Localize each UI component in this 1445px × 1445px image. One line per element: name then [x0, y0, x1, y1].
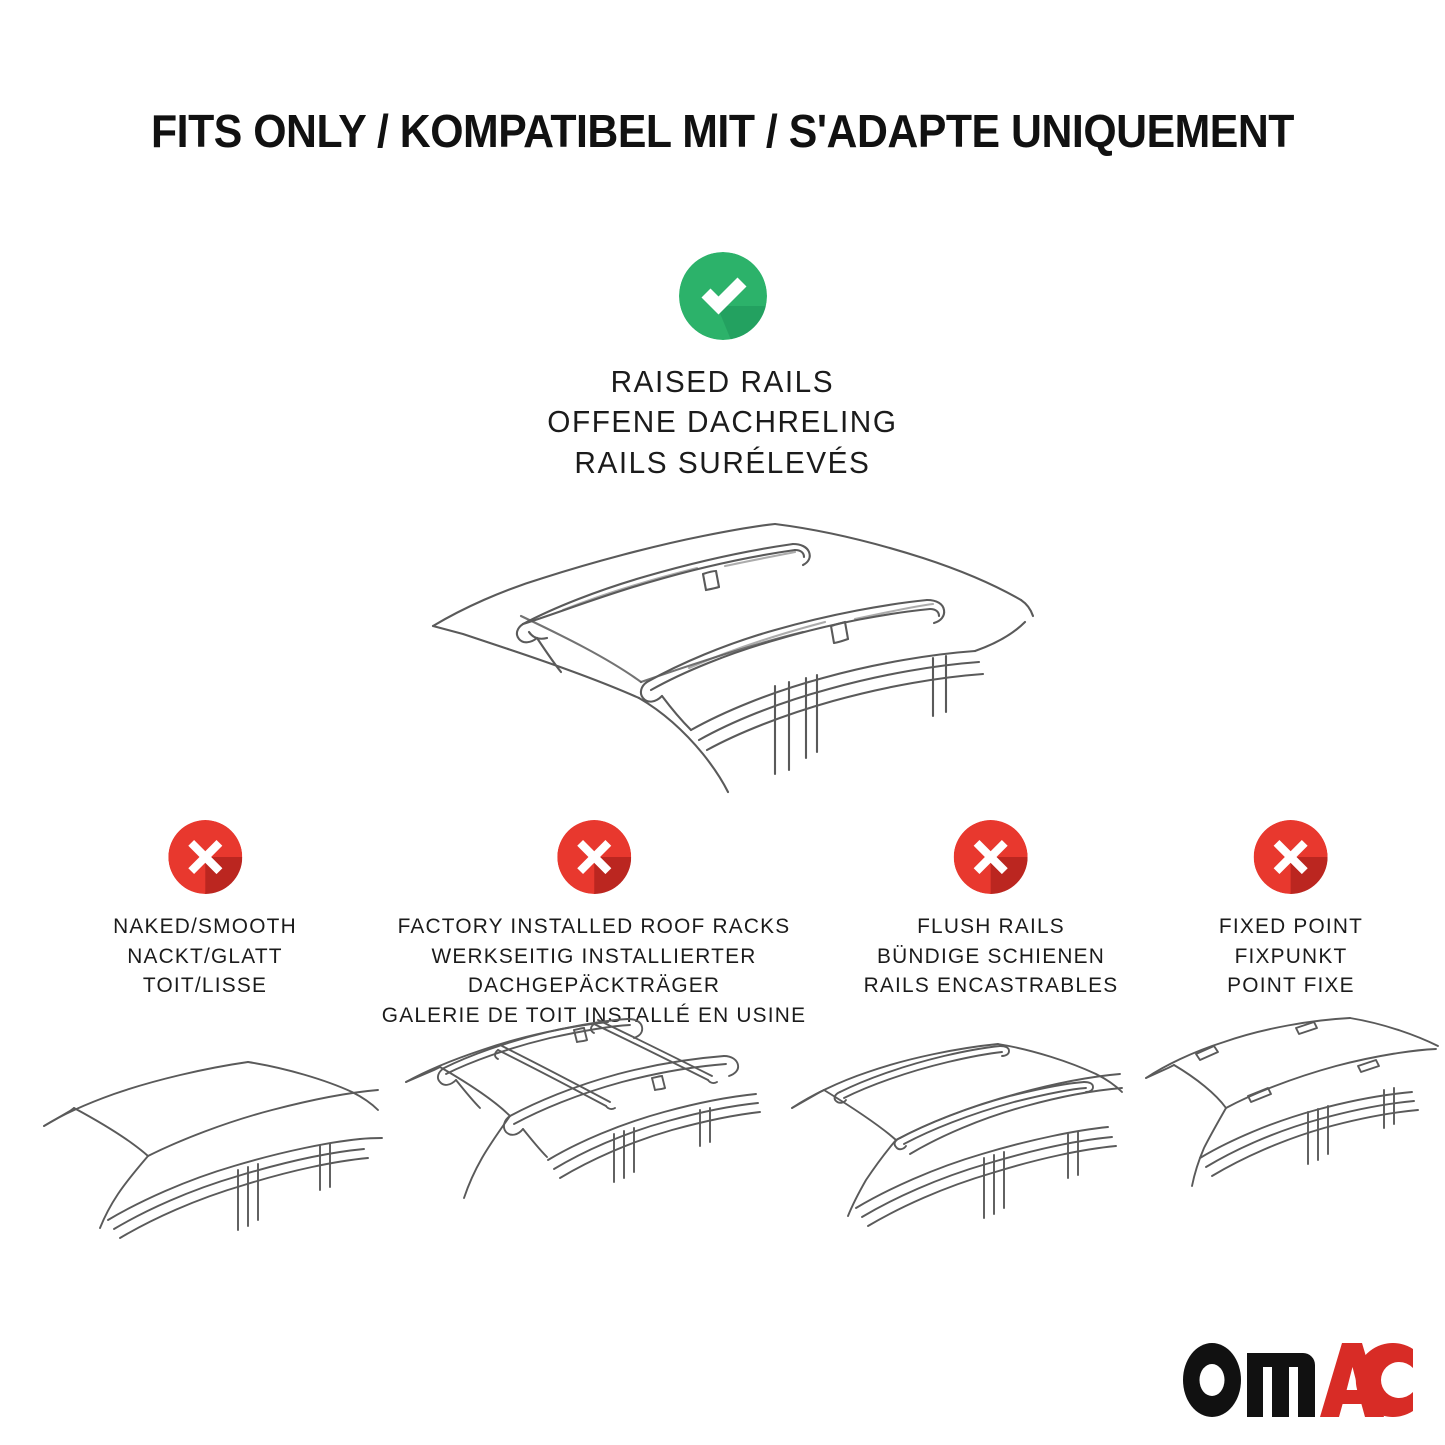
page-title: FITS ONLY / KOMPATIBEL MIT / S'ADAPTE UN…	[51, 104, 1395, 158]
incompatible-label-en: FACTORY INSTALLED ROOF RACKS	[382, 912, 806, 942]
compatible-label-de: OFFENE DACHRELING	[547, 402, 897, 442]
logo-letter-m	[1247, 1353, 1315, 1417]
incompatible-item-naked-smooth: NAKED/SMOOTH NACKT/GLATT TOIT/LISSE	[110, 820, 299, 1001]
compatible-label-fr: RAILS SURÉLEVÉS	[547, 443, 897, 483]
red-cross-circle-icon	[557, 820, 631, 894]
incompatible-label-de: FIXPUNKT	[1219, 942, 1363, 972]
red-cross-circle-icon	[954, 820, 1028, 894]
red-cross-circle-icon	[168, 820, 242, 894]
incompatible-item-flush-rails: FLUSH RAILS BÜNDIGE SCHIENEN RAILS ENCAS…	[860, 820, 1123, 1001]
compatible-label-en: RAISED RAILS	[547, 362, 897, 402]
incompatible-label-de-1: WERKSEITIG INSTALLIERTER	[382, 942, 806, 972]
car-roof-naked-smooth-illustration	[30, 1030, 390, 1265]
incompatible-labels: FIXED POINT FIXPUNKT POINT FIXE	[1219, 912, 1363, 1001]
incompatible-label-en: NAKED/SMOOTH	[113, 912, 297, 942]
car-roof-flush-rails-illustration	[778, 1026, 1138, 1264]
incompatible-label-de-2: DACHGEPÄCKTRÄGER	[382, 971, 806, 1001]
compatible-labels: RAISED RAILS OFFENE DACHRELING RAILS SUR…	[547, 362, 897, 483]
incompatible-item-fixed-point: FIXED POINT FIXPUNKT POINT FIXE	[1217, 820, 1366, 1001]
car-roof-factory-roof-racks-illustration	[398, 1016, 770, 1266]
incompatible-labels: FACTORY INSTALLED ROOF RACKS WERKSEITIG …	[382, 912, 806, 1031]
incompatible-label-fr: RAILS ENCASTRABLES	[864, 971, 1119, 1001]
car-roof-fixed-point-illustration	[1140, 1016, 1445, 1264]
compatibility-infographic: FITS ONLY / KOMPATIBEL MIT / S'ADAPTE UN…	[0, 0, 1445, 1445]
incompatible-item-factory-roof-racks: FACTORY INSTALLED ROOF RACKS WERKSEITIG …	[375, 820, 813, 1031]
car-roof-raised-rails-illustration	[403, 486, 1043, 796]
green-check-circle-icon	[679, 252, 767, 340]
incompatible-label-de: BÜNDIGE SCHIENEN	[864, 942, 1119, 972]
incompatible-label-en: FIXED POINT	[1219, 912, 1363, 942]
incompatible-label-fr: POINT FIXE	[1219, 971, 1363, 1001]
logo-letter-o	[1183, 1343, 1241, 1417]
red-cross-circle-icon	[1254, 820, 1328, 894]
incompatible-label-de: NACKT/GLATT	[113, 942, 297, 972]
incompatible-labels: FLUSH RAILS BÜNDIGE SCHIENEN RAILS ENCAS…	[864, 912, 1119, 1001]
incompatible-label-en: FLUSH RAILS	[864, 912, 1119, 942]
incompatible-section: NAKED/SMOOTH NACKT/GLATT TOIT/LISSE FACT…	[0, 820, 1445, 1290]
omac-logo: OMAC	[1183, 1343, 1413, 1417]
incompatible-label-fr: TOIT/LISSE	[113, 971, 297, 1001]
compatible-section: RAISED RAILS OFFENE DACHRELING RAILS SUR…	[0, 252, 1445, 483]
incompatible-labels: NAKED/SMOOTH NACKT/GLATT TOIT/LISSE	[113, 912, 297, 1001]
